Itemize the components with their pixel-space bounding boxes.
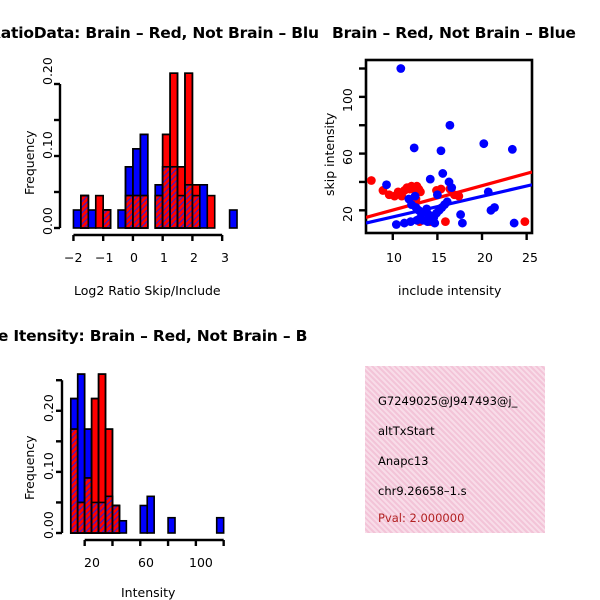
- panel-intensity-histogram: ne Itensity: Brain – Red, Not Brain – B …: [0, 300, 300, 600]
- ratio-hist-plot: [0, 0, 300, 310]
- info-line-gene-symbol: Anapc13: [378, 454, 428, 468]
- info-box: [365, 366, 545, 533]
- scatter-plot: [300, 0, 600, 310]
- info-line-locus: chr9.26658–1.s: [378, 484, 467, 498]
- panel-scatter: Brain – Red, Not Brain – Blue skip inten…: [300, 0, 600, 310]
- intensity-hist-plot: [0, 300, 300, 600]
- panel-info: G7249025@J947493@j_ altTxStart Anapc13 c…: [300, 300, 600, 600]
- info-line-pvalue: Pval: 2.000000: [378, 511, 464, 525]
- info-line-event-type: altTxStart: [378, 424, 435, 438]
- panel-ratio-histogram: RatioData: Brain – Red, Not Brain – Blu …: [0, 0, 300, 310]
- info-line-probe-id: G7249025@J947493@j_: [378, 394, 517, 408]
